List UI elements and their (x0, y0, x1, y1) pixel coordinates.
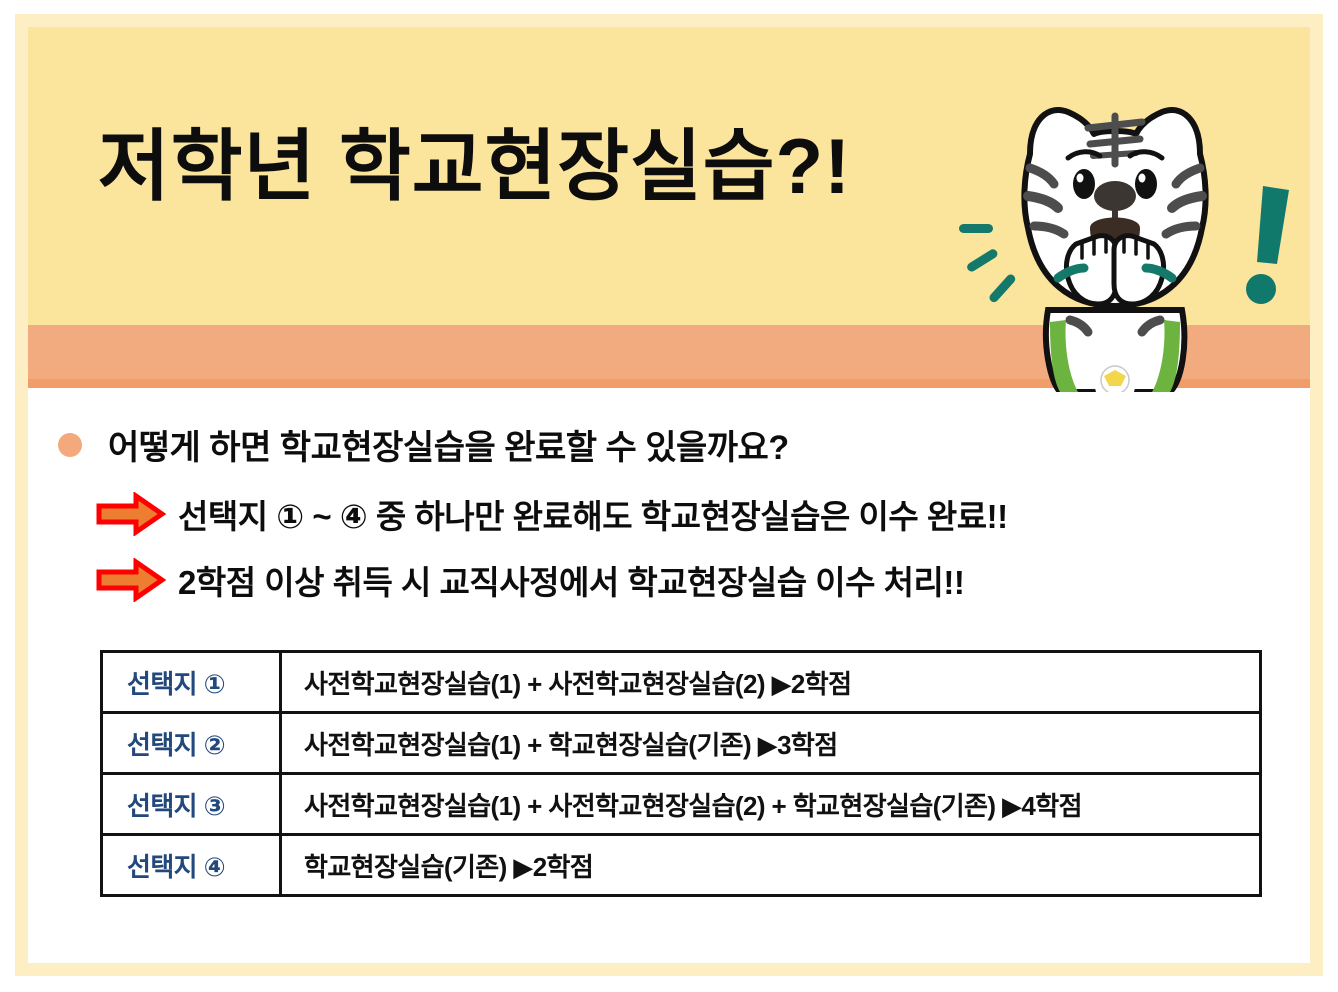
option-detail: 사전학교현장실습(1) + 사전학교현장실습(2) ▶2학점 (281, 652, 1261, 713)
page-title: 저학년 학교현장실습?! (98, 127, 851, 205)
question-text: 어떻게 하면 학교현장실습을 완료할 수 있을까요? (108, 420, 789, 469)
exclamation-mark-icon (1243, 182, 1303, 307)
point-text-1-after: 장실습은 이수 완료!! (730, 498, 1007, 535)
right-arrow-icon (96, 492, 166, 536)
option-label: 선택지 ④ (102, 835, 281, 896)
option-label: 선택지 ③ (102, 774, 281, 835)
bullet-dot-icon (58, 433, 82, 457)
question-text-highlight: 학교현장실습을 완료 (280, 420, 566, 469)
point-text-1: 선택지 ① ~ ④ 중 하나만 완료해도 학교현장실습은 이수 완료!! (178, 490, 1008, 538)
option-table: 선택지 ① 사전학교현장실습(1) + 사전학교현장실습(2) ▶2학점 선택지… (100, 650, 1262, 897)
point-row-1: 선택지 ① ~ ④ 중 하나만 완료해도 학교현장실습은 이수 완료!! (96, 490, 1008, 538)
option-label: 선택지 ① (102, 652, 281, 713)
white-tiger-mascot-icon (990, 92, 1240, 392)
point-text-2: 2학점 이상 취득 시 교직사정에서 학교현장실습 이수 처리!! (178, 556, 964, 604)
option-detail: 사전학교현장실습(1) + 학교현장실습(기존) ▶3학점 (281, 713, 1261, 774)
point-text-2-highlight: 2학점 이상 취득 시 교직사 (178, 556, 529, 604)
table-row: 선택지 ③ 사전학교현장실습(1) + 사전학교현장실습(2) + 학교현장실습… (102, 774, 1261, 835)
option-label: 선택지 ② (102, 713, 281, 774)
point-text-2-after: 정에서 학교현장실습 이수 처리!! (529, 564, 964, 601)
right-arrow-icon (96, 558, 166, 602)
table-row: 선택지 ① 사전학교현장실습(1) + 사전학교현장실습(2) ▶2학점 (102, 652, 1261, 713)
option-detail: 학교현장실습(기존) ▶2학점 (281, 835, 1261, 896)
point-text-1-highlight: 선택지 ① ~ ④ 중 하나만 완료해도 학교현 (178, 490, 730, 538)
question-text-before: 어떻게 하면 (108, 429, 280, 467)
question-bullet-row: 어떻게 하면 학교현장실습을 완료할 수 있을까요? (58, 420, 789, 469)
slide-canvas: 저학년 학교현장실습?! (0, 0, 1338, 992)
question-text-after: 할 수 있을까요? (566, 429, 789, 467)
table-row: 선택지 ② 사전학교현장실습(1) + 학교현장실습(기존) ▶3학점 (102, 713, 1261, 774)
table-row: 선택지 ④ 학교현장실습(기존) ▶2학점 (102, 835, 1261, 896)
slide-body: 어떻게 하면 학교현장실습을 완료할 수 있을까요? 선택지 ① ~ ④ 중 하… (28, 392, 1310, 962)
option-detail: 사전학교현장실습(1) + 사전학교현장실습(2) + 학교현장실습(기존) ▶… (281, 774, 1261, 835)
point-row-2: 2학점 이상 취득 시 교직사정에서 학교현장실습 이수 처리!! (96, 556, 964, 604)
